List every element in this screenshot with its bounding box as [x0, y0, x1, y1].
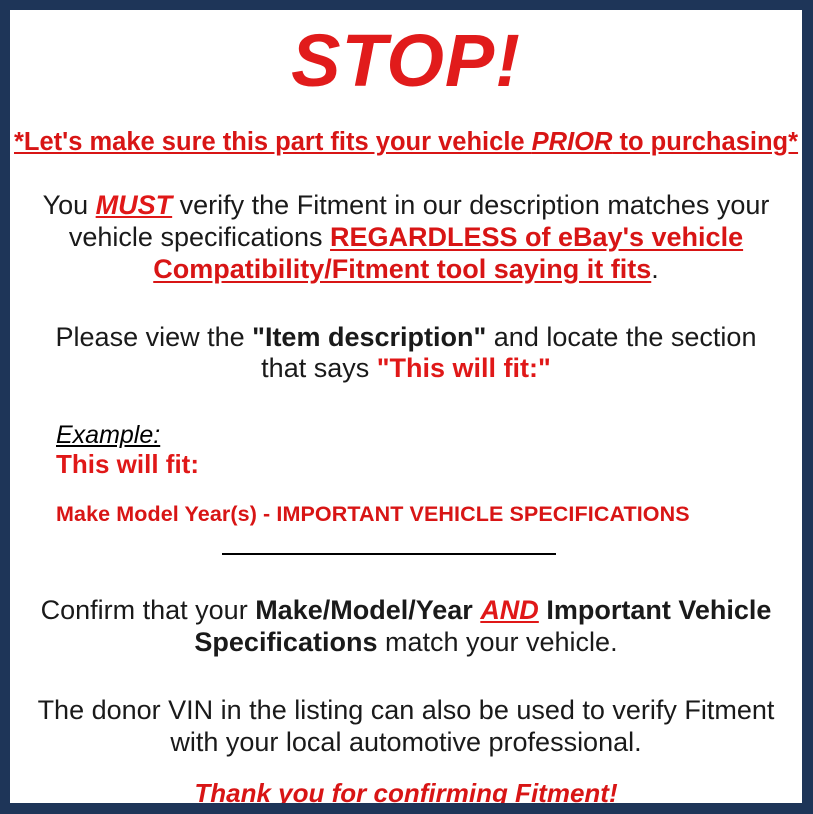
example-spec-line: Make Model Year(s) - IMPORTANT VEHICLE S…	[56, 502, 802, 527]
must-paragraph-part1: You	[43, 190, 96, 220]
subtitle-prefix: *Let's make sure this part fits your veh…	[14, 128, 532, 156]
horizontal-rule	[222, 553, 556, 555]
confirm-paragraph: Confirm that your Make/Model/Year AND Im…	[10, 595, 802, 659]
must-paragraph-part3: .	[651, 254, 659, 284]
notice-content: STOP! *Let's make sure this part fits yo…	[10, 10, 802, 803]
itemdesc-part1: Please view the	[56, 322, 253, 352]
subtitle-banner: *Let's make sure this part fits your veh…	[10, 128, 802, 156]
confirm-part1: Confirm that your	[41, 595, 256, 625]
example-block: Example: This will fit: Make Model Year(…	[10, 421, 802, 527]
item-description-paragraph: Please view the "Item description" and l…	[10, 322, 802, 386]
example-label: Example:	[56, 421, 802, 449]
must-verify-paragraph: You MUST verify the Fitment in our descr…	[10, 190, 802, 286]
divider-container	[10, 549, 802, 561]
item-description-label: "Item description"	[252, 322, 486, 352]
must-keyword: MUST	[96, 190, 173, 220]
and-keyword: AND	[480, 595, 539, 625]
make-model-year-keyword: Make/Model/Year	[255, 595, 473, 625]
confirm-part2: match your vehicle.	[377, 627, 617, 657]
page-title: STOP!	[10, 24, 802, 98]
this-will-fit-label: "This will fit:"	[377, 353, 551, 383]
subtitle-emphasis-prior: PRIOR	[532, 128, 613, 156]
donor-vin-paragraph: The donor VIN in the listing can also be…	[10, 695, 802, 759]
example-fit-heading: This will fit:	[56, 450, 802, 480]
fitment-notice-card: STOP! *Let's make sure this part fits yo…	[0, 0, 813, 814]
subtitle-suffix: to purchasing*	[612, 128, 798, 156]
thank-you-message: Thank you for confirming Fitment!	[10, 779, 802, 803]
